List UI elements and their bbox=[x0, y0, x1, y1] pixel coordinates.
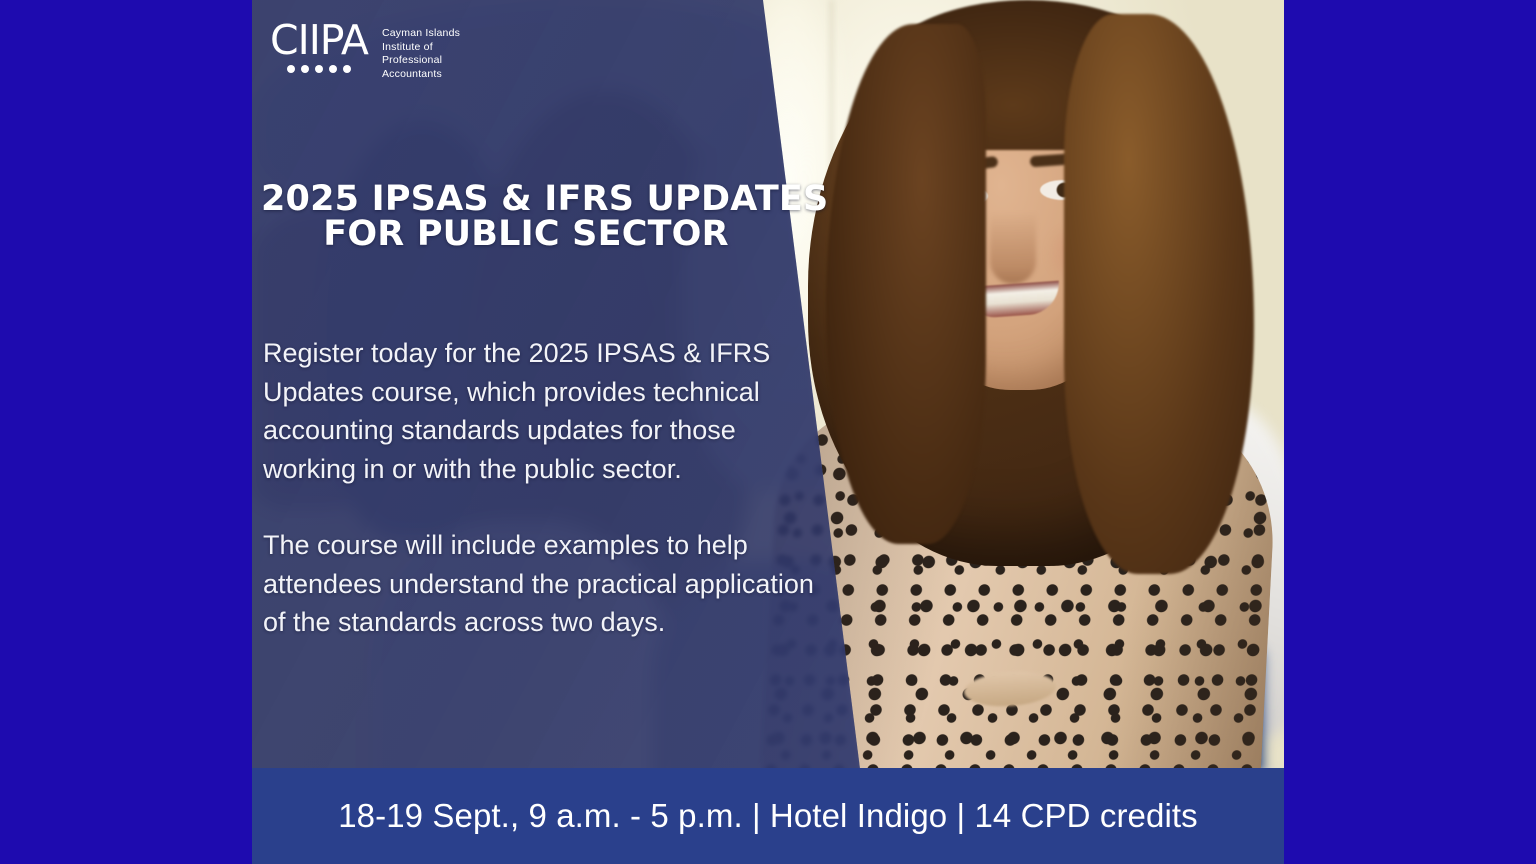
page-title-line-2: FOR PUBLIC SECTOR bbox=[261, 217, 791, 252]
logo-org-line-3: Professional bbox=[382, 54, 460, 68]
photo-nose bbox=[990, 212, 1036, 284]
logo-org-line-2: Institute of bbox=[382, 41, 460, 55]
logo-org-line-4: Accountants bbox=[382, 68, 460, 82]
logo-org-name: Cayman Islands Institute of Professional… bbox=[382, 20, 460, 81]
ciipa-logo: CIIPA Cayman Islands Institute of Profes… bbox=[270, 20, 460, 81]
body-paragraph-1: Register today for the 2025 IPSAS & IFRS… bbox=[263, 334, 823, 488]
event-details-banner: 18-19 Sept., 9 a.m. - 5 p.m. | Hotel Ind… bbox=[252, 768, 1284, 864]
logo-dot-1 bbox=[287, 65, 295, 73]
body-paragraph-2: The course will include examples to help… bbox=[263, 526, 823, 642]
event-details-text: 18-19 Sept., 9 a.m. - 5 p.m. | Hotel Ind… bbox=[338, 797, 1198, 835]
body-copy: Register today for the 2025 IPSAS & IFRS… bbox=[263, 334, 823, 642]
poster-canvas: CIIPA Cayman Islands Institute of Profes… bbox=[0, 0, 1536, 864]
page-title-line-1: 2025 IPSAS & IFRS UPDATES bbox=[261, 182, 791, 217]
logo-dots bbox=[287, 65, 351, 73]
logo-org-line-1: Cayman Islands bbox=[382, 27, 460, 41]
logo-dot-5 bbox=[343, 65, 351, 73]
logo-dot-3 bbox=[315, 65, 323, 73]
photo-hair-right bbox=[1064, 14, 1254, 574]
photo-hair-left bbox=[826, 24, 986, 544]
logo-mark: CIIPA bbox=[270, 20, 368, 73]
page-title: 2025 IPSAS & IFRS UPDATES FOR PUBLIC SEC… bbox=[261, 182, 791, 252]
logo-dot-2 bbox=[301, 65, 309, 73]
logo-dot-4 bbox=[329, 65, 337, 73]
logo-wordmark: CIIPA bbox=[270, 20, 368, 60]
